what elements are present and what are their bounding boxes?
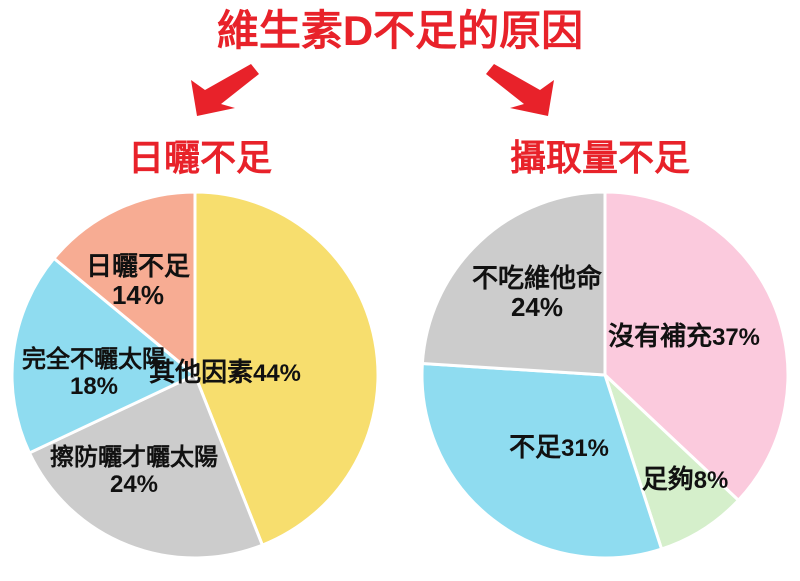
pie-chart-sunlight-svg (10, 190, 380, 560)
section-title-intake: 攝取量不足 (400, 129, 800, 181)
down-left-arrow-icon (185, 60, 265, 120)
down-right-arrow-icon (480, 60, 560, 120)
pie-chart-sunlight: 其他因素44%擦防曬才曬太陽24%完全不曬太陽18%日曬不足14% (10, 190, 380, 560)
pie-chart-intake-svg (420, 190, 790, 560)
pie-slice (422, 192, 605, 375)
section-title-sunlight: 日曬不足 (0, 129, 400, 181)
pie-chart-intake: 沒有補充37%足夠8%不足31%不吃維他命24% (420, 190, 790, 560)
page-title: 維生素D不足的原因 (0, 8, 800, 54)
